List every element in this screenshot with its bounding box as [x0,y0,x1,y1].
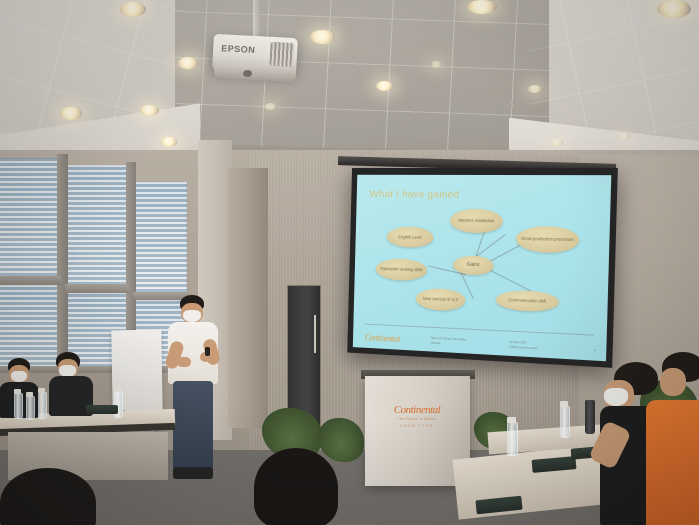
ceiling-downlight [178,57,198,69]
window-mullion [57,154,68,374]
bottle-cap [114,387,121,392]
bottle-cap [560,401,568,407]
projector-lens-icon [243,70,252,77]
projector-vent [269,42,294,67]
mindmap-node: Machine installation [450,209,503,234]
window-transom [65,284,129,293]
presenter-face-mask [183,310,201,322]
mindmap-center-label: Gains [467,262,480,269]
slide-page-number: 9 [594,348,596,352]
wall-column [228,168,268,428]
mindmap-node-label: Communication skill [508,298,546,305]
attendee-hair [0,468,96,525]
mindmap-node: Teamwork/ working skills [375,258,427,281]
conference-room-photo: EPSON What I have gained English Level M… [0,0,699,525]
presenter-shoes [173,467,213,479]
slide-footer-left: Name for Sender information internal [431,336,467,347]
ceiling-downlight [140,105,159,116]
bottle-cap [26,392,33,397]
bottle-cap [507,417,516,423]
mindmap-node-label: English Level [398,234,421,240]
attendee-face [660,368,686,396]
window-pane [0,158,59,278]
mindmap-node-label: New concept of I4.0 [423,296,458,303]
bottle-cap [38,388,45,393]
water-bottle[interactable] [26,396,35,420]
bottle-cap [14,389,21,394]
water-bottle[interactable] [14,393,23,419]
presenter-hand-left [177,357,191,367]
ceiling-downlight [376,81,393,91]
water-bottle[interactable] [38,392,47,419]
mindmap-node: New concept of I4.0 [416,288,466,312]
continental-logo-slide: Continental [365,332,400,344]
window-pane [67,165,127,287]
attendee-shirt-orange [646,400,699,525]
mindmap-node: Know production processes [516,226,580,254]
window-blinds [135,182,187,294]
window-transom [0,276,61,285]
slide-surface: What I have gained English Level Machine… [353,175,612,361]
water-bottle[interactable] [560,406,570,438]
attendee-foreground-1 [238,448,358,525]
ceiling-downlight [264,103,277,110]
attendee-face-mask [11,371,27,382]
mindmap-node-label: Know production processes [521,236,573,242]
slide-footer-right: 30 June 2020 ©2020 Continental AG [509,340,538,350]
ceiling-downlight [120,2,146,17]
presenter-trousers [173,381,213,471]
mindmap-node-label: Teamwork/ working skills [380,266,423,272]
attendee-foreground-2 [0,468,104,525]
presenter-standing [160,295,230,485]
window-pane [135,182,187,294]
laptop-device[interactable] [86,405,118,414]
mindmap-node-label: Machine installation [458,218,494,224]
ceiling-downlight [431,61,442,68]
ceiling-downlight [528,85,542,93]
ceiling-downlight [657,0,691,18]
attendee-right-2 [660,352,699,525]
projector-mount-pole [253,0,260,40]
slide-title: What I have gained [369,188,459,200]
projector-brand-label: EPSON [221,43,255,55]
door-handle[interactable] [314,315,316,353]
mindmap-node: Communication skill [495,290,559,313]
presentation-clicker[interactable] [205,347,210,356]
attendee-face-mask [604,388,628,406]
thermos-bottle[interactable] [585,400,595,434]
ceiling-downlight [60,107,82,120]
continental-logo-podium: Continental [378,404,456,416]
projection-screen: What I have gained English Level Machine… [347,168,618,368]
podium-tagline: The Future in Motion [378,417,456,421]
ceiling-downlight [467,0,497,14]
water-bottle[interactable] [507,422,518,456]
window-blinds [67,165,127,287]
podium-subline: YOUR TYRE [378,424,456,428]
mindmap-node: English Level [386,226,433,248]
window-blinds [0,158,59,278]
ceiling-downlight [551,139,563,146]
mindmap-connector [489,269,534,293]
ceiling-downlight [310,30,335,44]
ceiling-downlight [618,133,630,140]
attendee-hair [254,448,338,525]
